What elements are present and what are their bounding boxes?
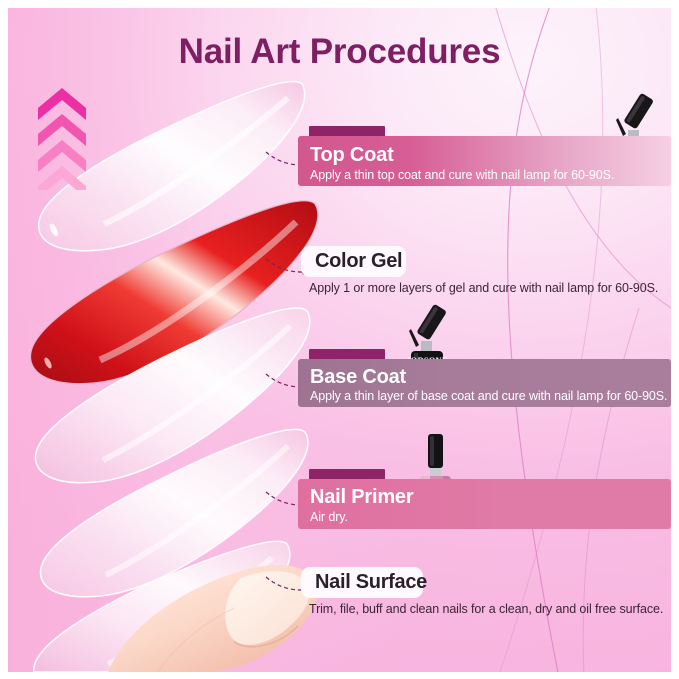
finger-with-natural-nail (16, 565, 317, 672)
chevron-up-icon (38, 166, 86, 190)
step-title-color-gel: Color Gel (301, 246, 406, 277)
step-title-base-coat: Base Coat (310, 366, 406, 389)
poster-root: JODSONE uv gel polish Top Coat NO WIPE 1… (0, 0, 679, 679)
step-description-top-coat: Apply a thin top coat and cure with nail… (310, 168, 614, 182)
nail-primer (40, 429, 307, 596)
nail-surface (34, 541, 290, 672)
chevron-up-icon-stack (34, 86, 90, 190)
page-title: Nail Art Procedures (8, 32, 671, 72)
step-description-color-gel: Apply 1 or more layers of gel and cure w… (309, 281, 658, 295)
step-title-nail-surface: Nail Surface (301, 567, 423, 598)
step-description-nail-primer: Air dry. (310, 510, 348, 524)
nail-color-gel (31, 201, 318, 384)
step-title-nail-primer: Nail Primer (310, 486, 413, 509)
poster-canvas: JODSONE uv gel polish Top Coat NO WIPE 1… (8, 8, 671, 672)
nail-base-coat (36, 308, 310, 483)
step-title-top-coat: Top Coat (310, 144, 394, 167)
step-description-nail-surface: Trim, file, buff and clean nails for a c… (309, 602, 663, 616)
step-description-base-coat: Apply a thin layer of base coat and cure… (310, 389, 667, 403)
